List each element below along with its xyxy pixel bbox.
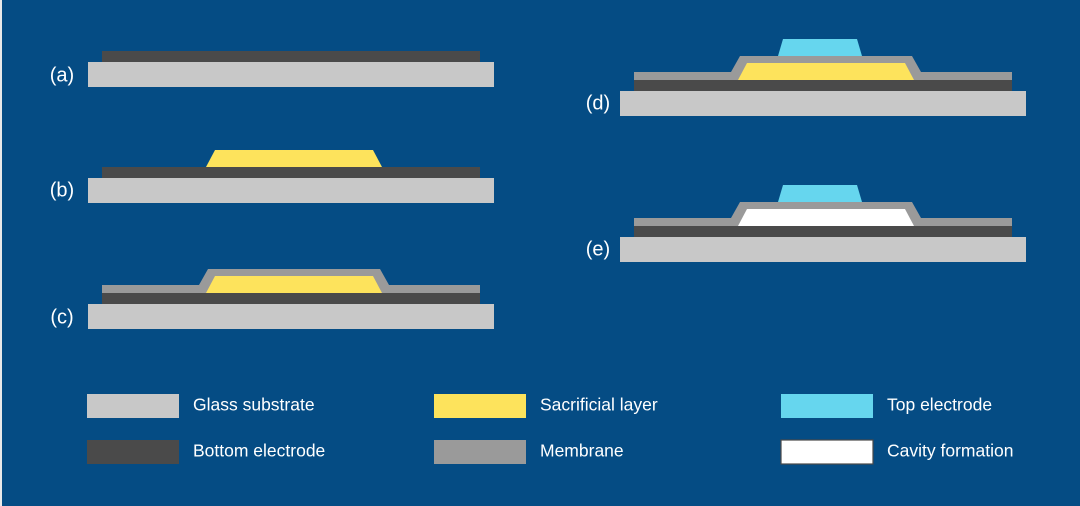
- panel-d-glass-substrate: [620, 91, 1026, 116]
- panel-e: (e): [586, 185, 1026, 262]
- panel-b-label: (b): [50, 179, 74, 201]
- panel-d-label: (d): [586, 92, 610, 114]
- panel-a-bottom-electrode: [102, 51, 480, 62]
- legend-item-membrane: Membrane: [434, 440, 624, 464]
- legend-label-top-electrode: Top electrode: [887, 395, 992, 415]
- panel-b-glass-substrate: [88, 178, 494, 203]
- panel-e-cavity: [738, 209, 914, 226]
- panel-b-bottom-electrode: [102, 167, 480, 178]
- legend-swatch-membrane: [434, 440, 526, 464]
- legend-label-bottom-electrode: Bottom electrode: [193, 441, 325, 461]
- legend-item-bottom-electrode: Bottom electrode: [87, 440, 325, 464]
- panel-a-label: (a): [50, 64, 74, 86]
- panel-c: (c): [50, 269, 494, 329]
- panel-d-bottom-electrode: [634, 80, 1012, 91]
- panel-c-bottom-electrode: [102, 293, 480, 304]
- panel-c-label: (c): [50, 306, 73, 328]
- panel-e-glass-substrate: [620, 237, 1026, 262]
- legend-swatch-cavity-formation: [781, 440, 873, 464]
- legend-label-glass-substrate: Glass substrate: [193, 395, 315, 415]
- process-flow-figure: (a) (b) (c) (d): [0, 0, 1080, 506]
- panel-c-sacrificial-layer: [206, 276, 382, 293]
- legend-swatch-glass-substrate: [87, 394, 179, 418]
- panel-e-top-electrode: [778, 185, 862, 202]
- panel-d: (d): [586, 39, 1026, 116]
- process-diagram-canvas: (a) (b) (c) (d): [2, 0, 1080, 506]
- legend-swatch-sacrificial-layer: [434, 394, 526, 418]
- panel-e-label: (e): [586, 238, 610, 260]
- legend-swatch-bottom-electrode: [87, 440, 179, 464]
- legend-item-sacrificial-layer: Sacrificial layer: [434, 394, 658, 418]
- legend-label-sacrificial-layer: Sacrificial layer: [540, 395, 658, 415]
- legend: Glass substrate Bottom electrode Sacrifi…: [87, 394, 1013, 464]
- legend-label-membrane: Membrane: [540, 441, 624, 461]
- panel-e-bottom-electrode: [634, 226, 1012, 237]
- panel-a-glass-substrate: [88, 62, 494, 87]
- legend-item-top-electrode: Top electrode: [781, 394, 992, 418]
- panel-c-glass-substrate: [88, 304, 494, 329]
- panel-b-sacrificial-layer: [206, 150, 382, 167]
- legend-item-cavity-formation: Cavity formation: [781, 440, 1013, 464]
- legend-swatch-top-electrode: [781, 394, 873, 418]
- legend-label-cavity-formation: Cavity formation: [887, 441, 1013, 461]
- panel-d-top-electrode: [778, 39, 862, 56]
- panel-b: (b): [50, 150, 494, 203]
- legend-item-glass-substrate: Glass substrate: [87, 394, 315, 418]
- panel-d-sacrificial-layer: [738, 63, 914, 80]
- panel-a: (a): [50, 51, 494, 87]
